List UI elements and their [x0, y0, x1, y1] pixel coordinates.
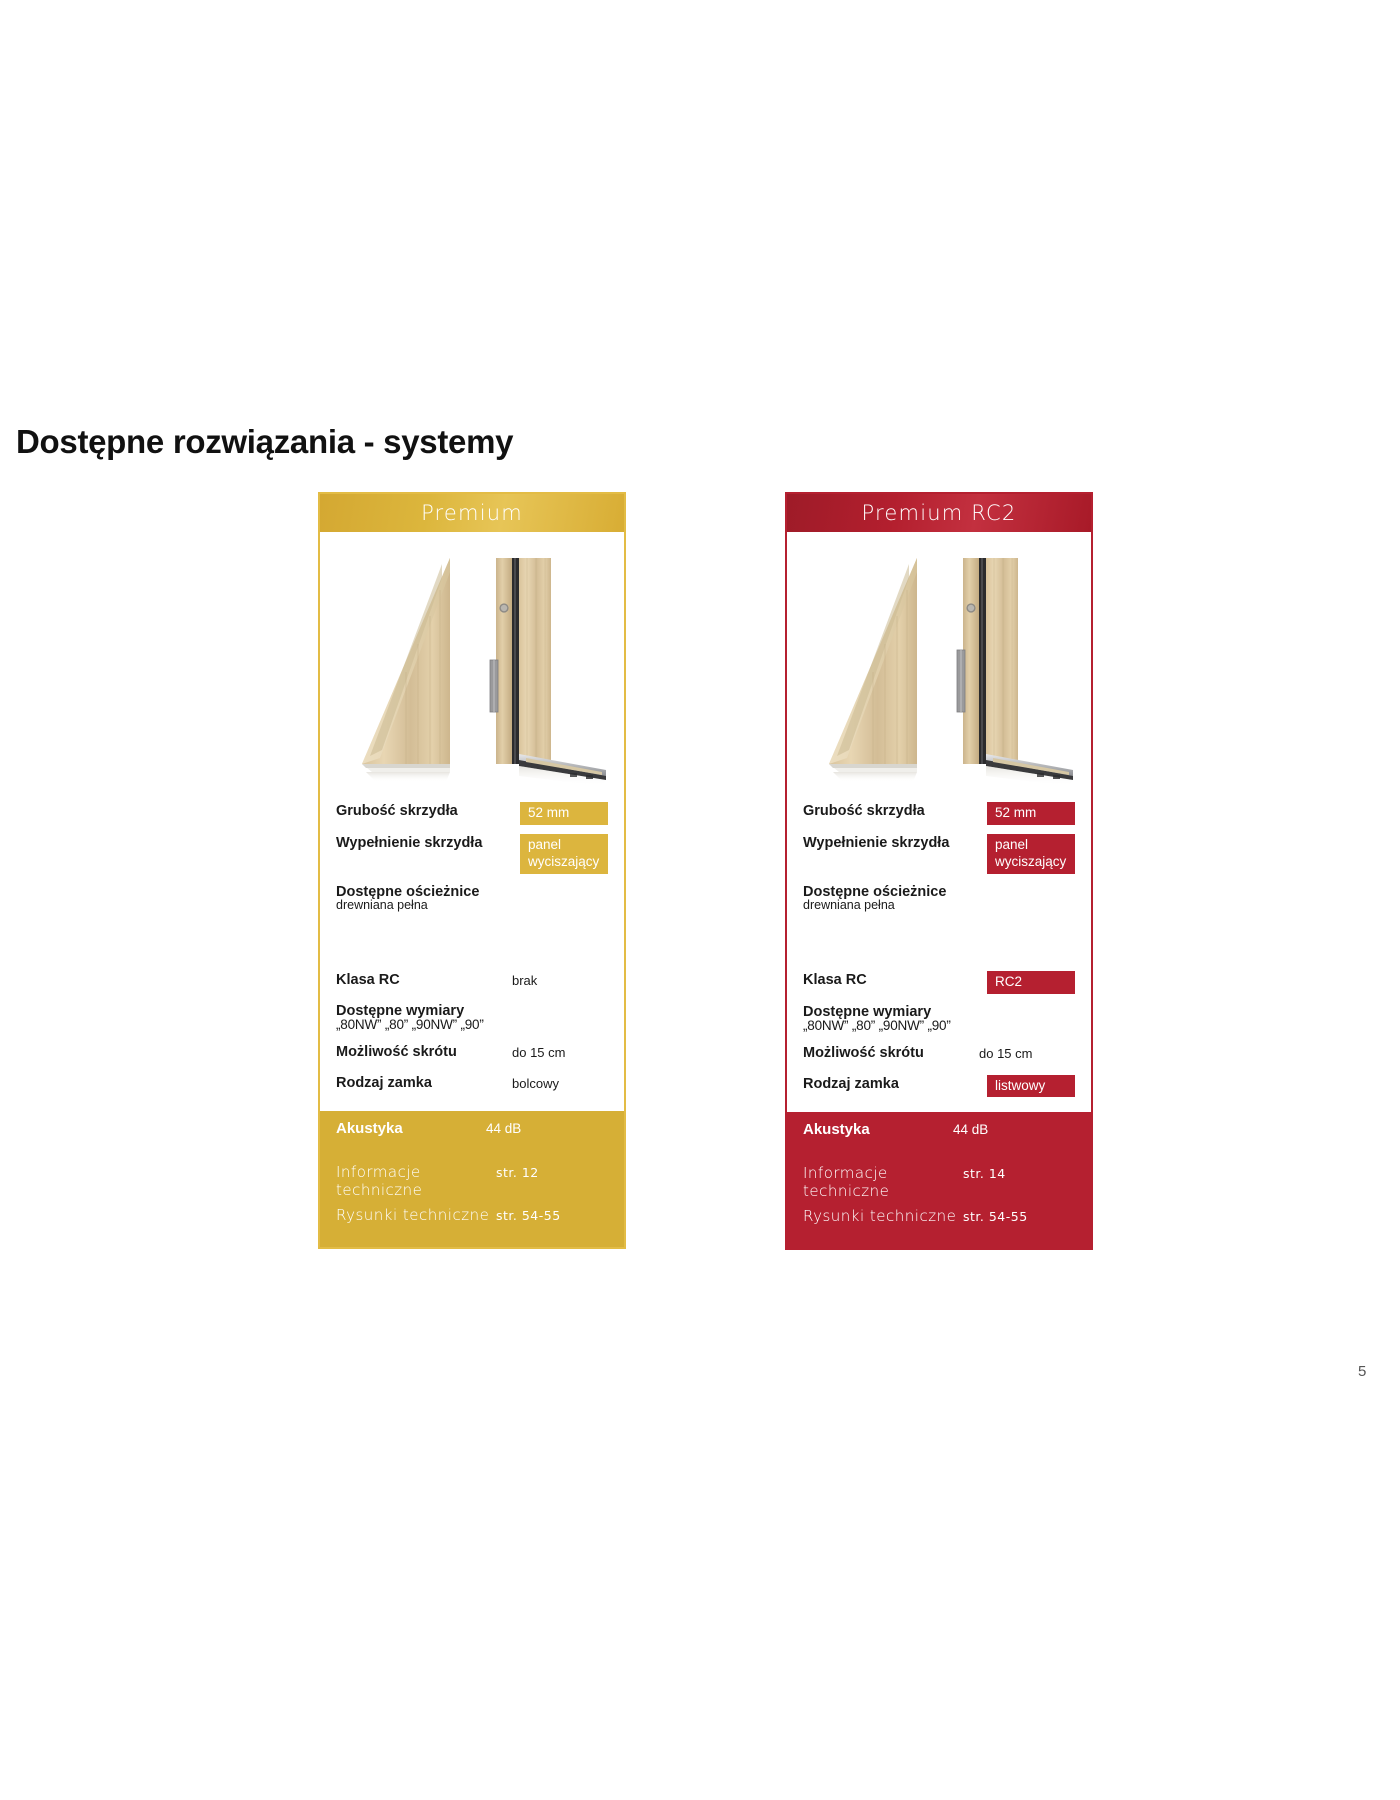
brochure-page: Dostępne rozwiązania - systemy Premium: [0, 0, 1400, 1800]
acoustics-value: 44 dB: [953, 1122, 988, 1137]
product-image-premium-rc2: [787, 532, 1091, 788]
card-header-title: Premium: [421, 501, 523, 525]
spec-block: Dostępne wymiary „80NW” „80” „90NW” „90”: [336, 1002, 608, 1034]
acoustics-row: Akustyka 44 dB: [336, 1120, 608, 1137]
link-label: Informacje techniczne: [803, 1164, 963, 1200]
door-cutaway-illustration: [787, 532, 1091, 788]
footer-link-technical-drawings[interactable]: Rysunki techniczne str. 54-55: [336, 1206, 608, 1224]
spec-row: Wypełnienie skrzydła panel wyciszający: [803, 834, 1075, 874]
link-page: str. 12: [496, 1165, 539, 1180]
spec-spacer: [803, 913, 1075, 971]
link-label: Informacje techniczne: [336, 1163, 496, 1199]
link-label: Rysunki techniczne: [803, 1207, 963, 1225]
spec-list-premium: Grubość skrzydła 52 mm Wypełnienie skrzy…: [320, 788, 624, 1111]
link-page: str. 54-55: [963, 1209, 1028, 1224]
spec-row: Grubość skrzydła 52 mm: [803, 802, 1075, 825]
footer-link-technical-drawings[interactable]: Rysunki techniczne str. 54-55: [803, 1207, 1075, 1225]
footer-link-technical-info[interactable]: Informacje techniczne str. 14: [803, 1164, 1075, 1200]
spec-value-chip: RC2: [987, 971, 1075, 994]
acoustics-label: Akustyka: [336, 1120, 486, 1137]
spec-value-chip: panel wyciszający: [520, 834, 608, 874]
spec-row: Klasa RC brak: [336, 971, 608, 993]
acoustics-row: Akustyka 44 dB: [803, 1121, 1075, 1138]
spec-value-chip: listwowy: [987, 1075, 1075, 1098]
spec-row: Klasa RC RC2: [803, 971, 1075, 994]
card-footer-premium-rc2: Akustyka 44 dB Informacje techniczne str…: [787, 1112, 1091, 1248]
spec-label: Grubość skrzydła: [336, 802, 458, 820]
spec-label: Rodzaj zamka: [803, 1075, 899, 1093]
spec-spacer: [336, 913, 608, 971]
spec-value: do 15 cm: [512, 1043, 608, 1060]
footer-link-technical-info[interactable]: Informacje techniczne str. 12: [336, 1163, 608, 1199]
spec-row: Grubość skrzydła 52 mm: [336, 802, 608, 825]
spec-row: Wypełnienie skrzydła panel wyciszający: [336, 834, 608, 874]
spec-block: Dostępne ościeżnice drewniana pełna: [803, 883, 1075, 913]
link-page: str. 54-55: [496, 1208, 561, 1223]
card-header-premium-rc2: Premium RC2: [787, 494, 1091, 532]
footer-links: Informacje techniczne str. 12 Rysunki te…: [336, 1163, 608, 1224]
card-footer-premium: Akustyka 44 dB Informacje techniczne str…: [320, 1111, 624, 1247]
spec-value-chip: panel wyciszający: [987, 834, 1075, 874]
link-page: str. 14: [963, 1166, 1006, 1181]
footer-links: Informacje techniczne str. 14 Rysunki te…: [803, 1164, 1075, 1225]
spec-row: Rodzaj zamka listwowy: [803, 1075, 1075, 1098]
spec-list-premium-rc2: Grubość skrzydła 52 mm Wypełnienie skrzy…: [787, 788, 1091, 1112]
spec-row: Rodzaj zamka bolcowy: [336, 1074, 608, 1096]
spec-label: Wypełnienie skrzydła: [803, 834, 949, 852]
door-cutaway-illustration: [320, 532, 624, 788]
page-number: 5: [1358, 1363, 1366, 1380]
spec-label: Klasa RC: [336, 971, 400, 989]
spec-value: bolcowy: [512, 1074, 608, 1091]
spec-value: brak: [512, 971, 608, 988]
product-card-premium-rc2[interactable]: Premium RC2: [785, 492, 1093, 1250]
acoustics-label: Akustyka: [803, 1121, 953, 1138]
spec-value-chip: 52 mm: [987, 802, 1075, 825]
card-header-title: Premium RC2: [862, 501, 1017, 525]
card-header-premium: Premium: [320, 494, 624, 532]
acoustics-value: 44 dB: [486, 1121, 521, 1136]
product-card-premium[interactable]: Premium: [318, 492, 626, 1249]
page-title: Dostępne rozwiązania - systemy: [16, 423, 513, 461]
spec-row: Możliwość skrótu do 15 cm: [803, 1044, 1075, 1066]
product-image-premium: [320, 532, 624, 788]
spec-value-chip: 52 mm: [520, 802, 608, 825]
spec-row: Możliwość skrótu do 15 cm: [336, 1043, 608, 1065]
link-label: Rysunki techniczne: [336, 1206, 496, 1224]
spec-label: Możliwość skrótu: [803, 1044, 924, 1062]
spec-subtext: „80NW” „80” „90NW” „90”: [336, 1016, 608, 1034]
spec-label: Rodzaj zamka: [336, 1074, 432, 1092]
spec-value: do 15 cm: [979, 1044, 1075, 1061]
spec-label: Możliwość skrótu: [336, 1043, 457, 1061]
spec-label: Grubość skrzydła: [803, 802, 925, 820]
spec-label: Wypełnienie skrzydła: [336, 834, 482, 852]
spec-subtext: „80NW” „80” „90NW” „90”: [803, 1017, 1075, 1035]
spec-label: Klasa RC: [803, 971, 867, 989]
spec-block: Dostępne wymiary „80NW” „80” „90NW” „90”: [803, 1003, 1075, 1035]
spec-block: Dostępne ościeżnice drewniana pełna: [336, 883, 608, 913]
